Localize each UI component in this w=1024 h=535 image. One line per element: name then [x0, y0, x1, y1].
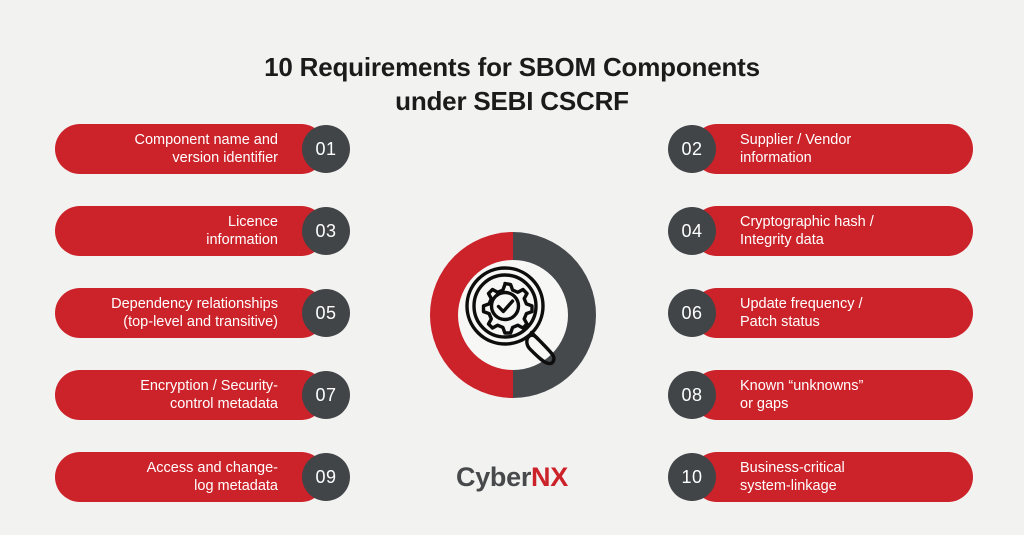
requirement-number-badge: 08 [668, 371, 716, 419]
requirement-number-badge: 05 [302, 289, 350, 337]
requirement-number-badge: 04 [668, 207, 716, 255]
requirement-item-07: Encryption / Security- control metadata … [55, 370, 350, 420]
cybernx-logo: CyberNX [0, 462, 1024, 493]
requirement-label: Update frequency / Patch status [740, 295, 863, 331]
requirement-item-04: Cryptographic hash / Integrity data 04 [668, 206, 973, 256]
requirement-item-01: Component name and version identifier 01 [55, 124, 350, 174]
page-title: 10 Requirements for SBOM Components unde… [0, 50, 1024, 118]
requirement-number-badge: 06 [668, 289, 716, 337]
infographic-canvas: 10 Requirements for SBOM Components unde… [0, 0, 1024, 535]
requirement-item-02: Supplier / Vendor information 02 [668, 124, 973, 174]
requirement-item-03: Licence information 03 [55, 206, 350, 256]
requirement-label: Known “unknowns” or gaps [740, 377, 863, 413]
requirement-pill: Dependency relationships (top-level and … [55, 288, 326, 338]
requirement-label: Component name and version identifier [135, 131, 279, 167]
title-line-1: 10 Requirements for SBOM Components [0, 50, 1024, 84]
logo-text-nx: NX [531, 462, 568, 492]
requirement-number-badge: 03 [302, 207, 350, 255]
title-line-2: under SEBI CSCRF [0, 84, 1024, 118]
requirement-label: Supplier / Vendor information [740, 131, 851, 167]
requirement-number-badge: 01 [302, 125, 350, 173]
requirement-label: Licence information [206, 213, 278, 249]
requirement-pill: Licence information [55, 206, 326, 256]
requirement-pill: Supplier / Vendor information [692, 124, 973, 174]
requirement-number-badge: 07 [302, 371, 350, 419]
requirement-pill: Component name and version identifier [55, 124, 326, 174]
requirement-item-08: Known “unknowns” or gaps 08 [668, 370, 973, 420]
requirement-pill: Encryption / Security- control metadata [55, 370, 326, 420]
requirement-item-05: Dependency relationships (top-level and … [55, 288, 350, 338]
requirement-pill: Cryptographic hash / Integrity data [692, 206, 973, 256]
requirement-label: Dependency relationships (top-level and … [111, 295, 278, 331]
requirement-label: Encryption / Security- control metadata [140, 377, 278, 413]
requirement-label: Cryptographic hash / Integrity data [740, 213, 874, 249]
logo-text-cyber: Cyber [456, 462, 531, 492]
requirement-item-06: Update frequency / Patch status 06 [668, 288, 973, 338]
requirement-pill: Known “unknowns” or gaps [692, 370, 973, 420]
magnifier-gear-check-icon [463, 264, 563, 366]
requirement-pill: Update frequency / Patch status [692, 288, 973, 338]
requirement-number-badge: 02 [668, 125, 716, 173]
center-graphic [430, 232, 596, 398]
